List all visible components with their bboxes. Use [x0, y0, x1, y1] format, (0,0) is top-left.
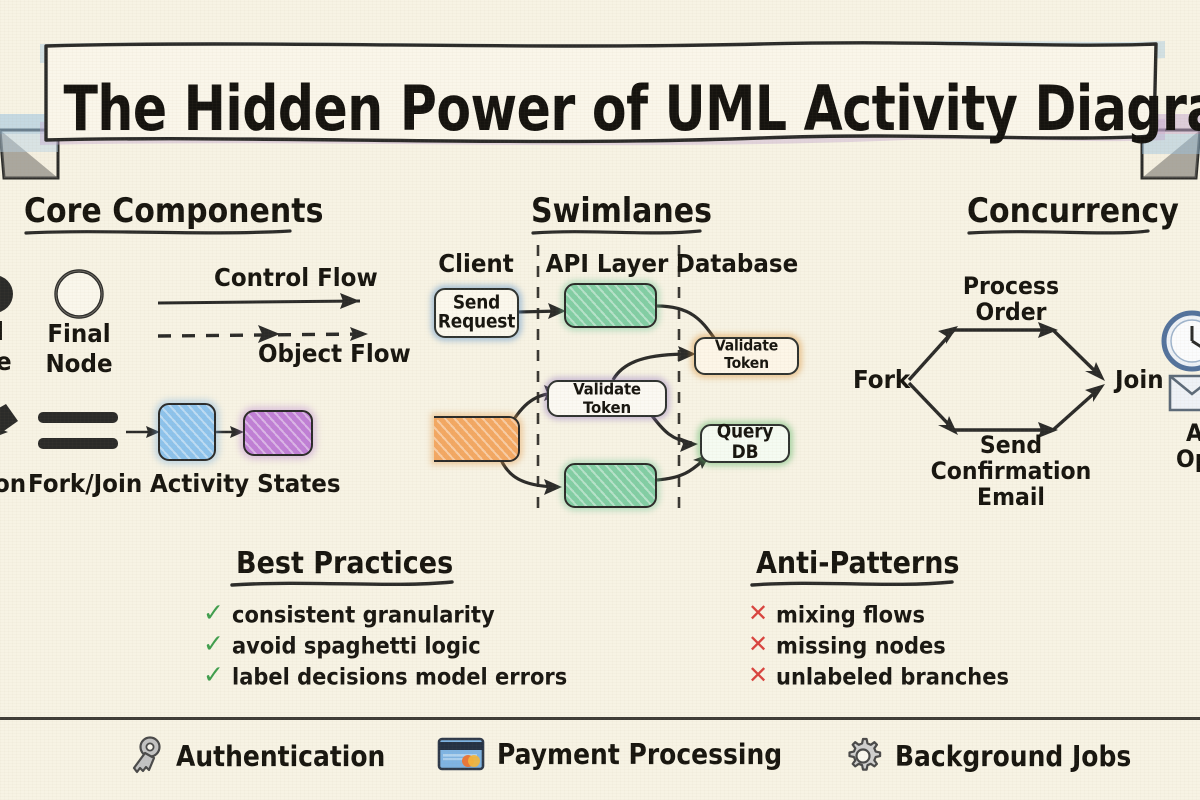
footer-item-background-jobs[interactable]: Background Jobs: [843, 736, 1131, 776]
cross-icon-3: ✕: [748, 661, 768, 689]
anti-patterns-underline: [0, 0, 1200, 800]
anti-pattern-item-3: unlabeled branches: [776, 663, 1009, 690]
anti-pattern-item-1: mixing flows: [776, 601, 925, 628]
footer-label-authentication: Authentication: [176, 739, 385, 772]
footer-label-background-jobs: Background Jobs: [895, 739, 1131, 772]
footer-item-authentication[interactable]: Authentication: [128, 736, 385, 776]
infographic-canvas: The Hidden Power of UML Activity Diagram…: [0, 0, 1200, 800]
footer-divider: [0, 717, 1200, 720]
credit-card-icon: [437, 736, 485, 772]
cross-icon-1: ✕: [748, 599, 768, 627]
footer-label-payment-processing: Payment Processing: [497, 737, 782, 770]
anti-pattern-item-2: missing nodes: [776, 632, 946, 659]
key-icon: [128, 736, 164, 776]
gear-icon: [843, 736, 883, 776]
footer-item-payment-processing[interactable]: Payment Processing: [437, 736, 782, 772]
cross-icon-2: ✕: [748, 630, 768, 658]
